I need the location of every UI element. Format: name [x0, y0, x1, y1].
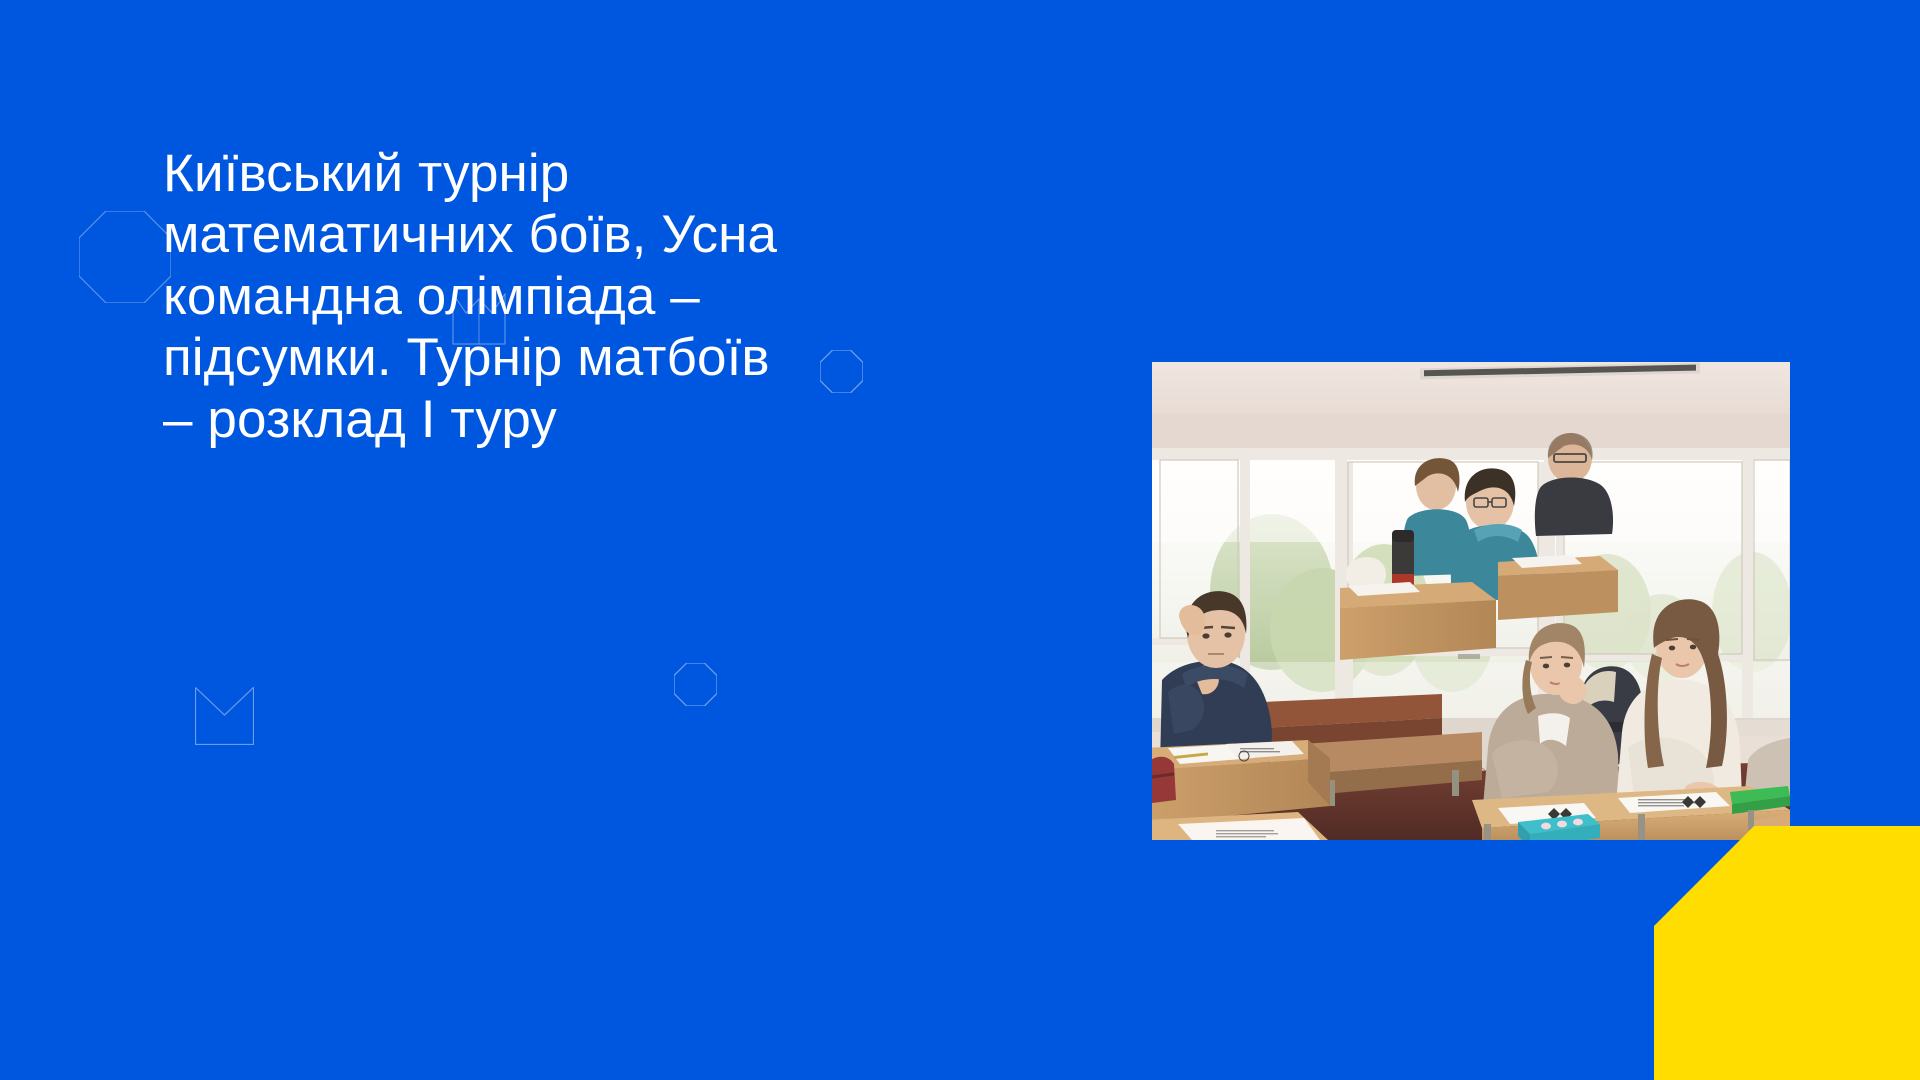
classroom-photo	[1152, 362, 1790, 840]
presentation-slide: Київський турнір математичних боїв, Усна…	[0, 0, 1920, 1080]
page-title: Київський турнір математичних боїв, Усна…	[163, 143, 803, 450]
yellow-corner-accent	[1654, 826, 1920, 1080]
slide-title-block: Київський турнір математичних боїв, Усна…	[163, 143, 803, 450]
